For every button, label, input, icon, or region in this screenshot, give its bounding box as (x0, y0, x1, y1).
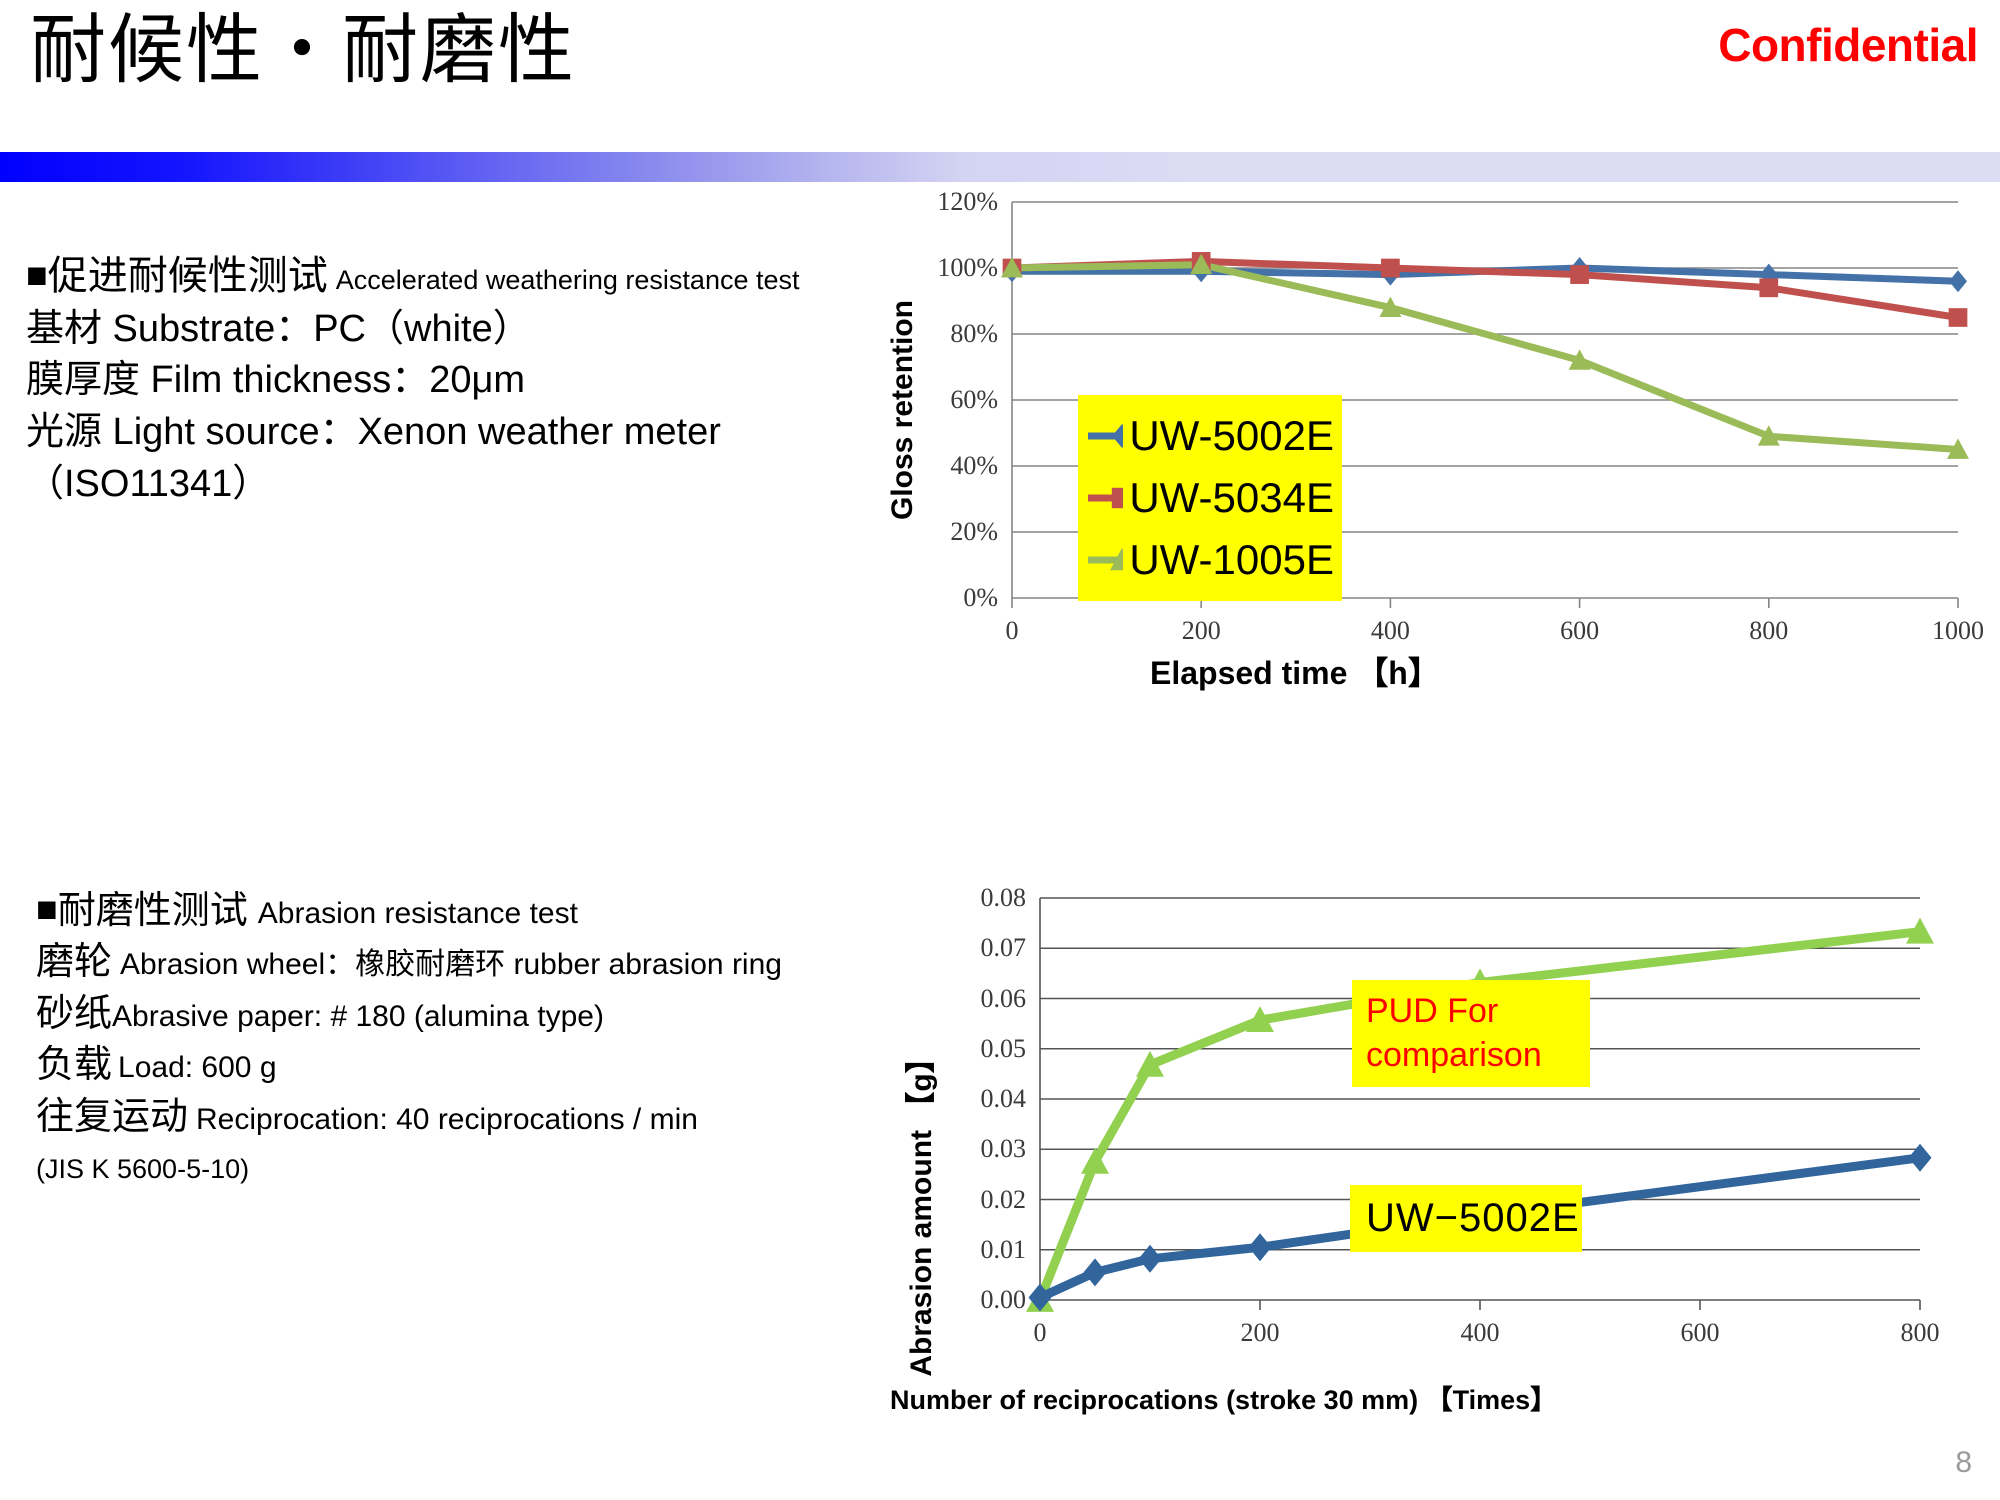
legend-marker-diamond-icon (1086, 419, 1123, 453)
abrasion-row-wheel: 磨轮Abrasion wheel：橡胶耐磨环 rubber abrasion r… (36, 937, 916, 989)
legend-marker-triangle-icon (1086, 543, 1123, 577)
abrasion-row-paper-en: Abrasive paper: # 180 (alumina type) (112, 1000, 604, 1033)
abrasion-row-reciprocation-en: Reciprocation: 40 reciprocations / min (196, 1103, 698, 1136)
weathering-legend-label: UW-5034E (1129, 474, 1334, 522)
abrasion-row-reciprocation: 往复运动Reciprocation: 40 reciprocations / m… (36, 1092, 916, 1144)
weathering-heading: ■促进耐候性测试Accelerated weathering resistanc… (26, 250, 906, 304)
weathering-legend-item[interactable]: UW-1005E (1086, 529, 1334, 591)
abrasion-annotation-pud: PUD For comparison (1352, 980, 1590, 1087)
abrasion-annotation-uw: UW−5002E (1350, 1185, 1582, 1252)
abrasion-info-block: ■耐磨性测试Abrasion resistance test 磨轮Abrasio… (36, 885, 916, 1189)
legend-marker-square-icon (1086, 481, 1123, 515)
weathering-line-thickness: 膜厚度 Film thickness：20μm (26, 355, 906, 407)
slide-root: 耐候性・耐磨性 Confidential ■促进耐候性测试Accelerated… (0, 0, 2000, 1500)
weathering-line-substrate: 基材 Substrate：PC（white） (26, 304, 906, 356)
abrasion-row-paper-cn: 砂纸 (36, 993, 112, 1035)
abrasion-x-axis-title: Number of reciprocations (stroke 30 mm) … (890, 1378, 1557, 1417)
header-gradient-rule (0, 152, 2000, 182)
weathering-plot-area (900, 190, 1980, 690)
confidential-badge: Confidential (1718, 18, 1978, 72)
abrasion-row-wheel-en: Abrasion wheel：橡胶耐磨环 rubber abrasion rin… (120, 948, 782, 981)
weathering-chart: Gloss retention 0%20%40%60%80%100%120% 0… (900, 190, 1980, 690)
weathering-info-block: ■促进耐候性测试Accelerated weathering resistanc… (26, 250, 906, 510)
abrasion-chart: Abrasion amount 【g】 0.000.010.020.030.04… (900, 880, 1980, 1380)
weathering-legend-item[interactable]: UW-5002E (1086, 405, 1334, 467)
weathering-x-axis-title: Elapsed time 【h】 (1150, 648, 1440, 694)
abrasion-row-paper: 砂纸Abrasive paper: # 180 (alumina type) (36, 989, 916, 1041)
bullet-square-icon: ■ (26, 254, 48, 295)
weathering-heading-en: Accelerated weathering resistance test (336, 265, 800, 295)
weathering-line-standard: （ISO11341） (26, 459, 906, 511)
abrasion-row-load-cn: 负载 (36, 1044, 112, 1086)
weathering-line-lightsource: 光源 Light source：Xenon weather meter (26, 407, 906, 459)
abrasion-heading-cn: 耐磨性测试 (58, 890, 248, 932)
abrasion-row-load: 负载Load: 600 g (36, 1040, 916, 1092)
abrasion-row-load-en: Load: 600 g (118, 1051, 276, 1084)
weathering-legend: UW-5002EUW-5034EUW-1005E (1078, 395, 1342, 601)
page-title: 耐候性・耐磨性 (30, 12, 576, 92)
abrasion-standard: (JIS K 5600-5-10) (36, 1150, 916, 1189)
abrasion-heading-en: Abrasion resistance test (258, 897, 578, 930)
abrasion-heading: ■耐磨性测试Abrasion resistance test (36, 885, 916, 937)
weathering-legend-label: UW-1005E (1129, 536, 1334, 584)
weathering-legend-item[interactable]: UW-5034E (1086, 467, 1334, 529)
page-number: 8 (1955, 1446, 1972, 1480)
abrasion-row-reciprocation-cn: 往复运动 (36, 1096, 188, 1138)
abrasion-row-wheel-cn: 磨轮 (36, 941, 112, 983)
abrasion-plot-area (900, 880, 1980, 1380)
bullet-square-icon: ■ (36, 888, 58, 929)
weathering-legend-label: UW-5002E (1129, 412, 1334, 460)
weathering-heading-cn: 促进耐候性测试 (48, 254, 328, 298)
